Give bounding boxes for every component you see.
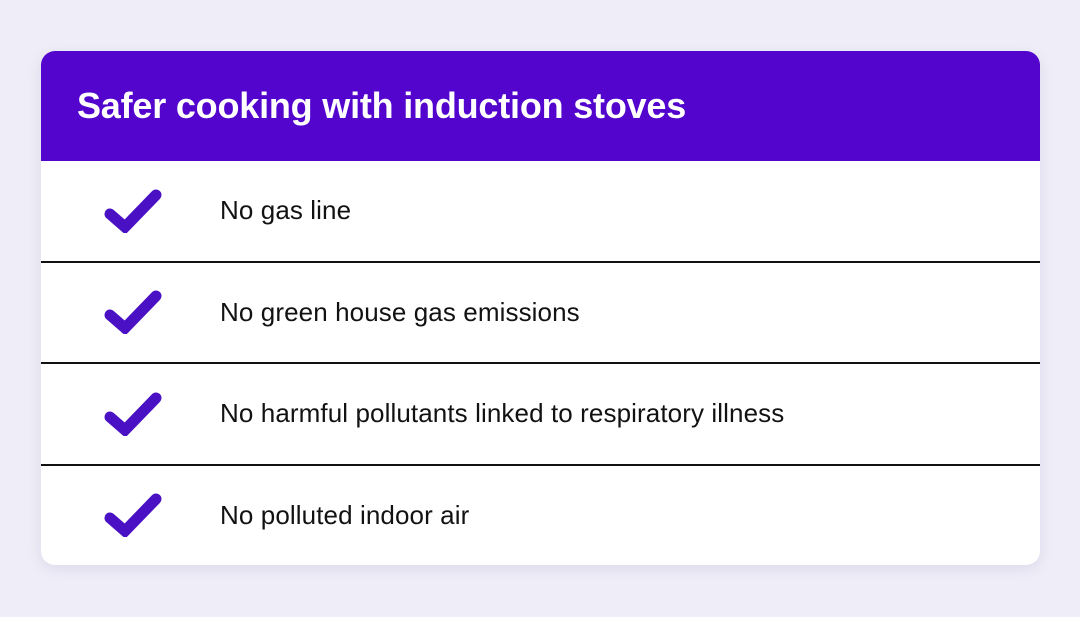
benefits-card: Safer cooking with induction stoves No g… [41,51,1040,565]
feature-label: No green house gas emissions [220,297,580,328]
card-header: Safer cooking with induction stoves [41,51,1040,161]
check-icon [104,290,162,334]
check-cell [41,392,220,436]
list-item: No gas line [41,161,1040,261]
list-item: No harmful pollutants linked to respirat… [41,362,1040,464]
check-icon [104,392,162,436]
page-root: Safer cooking with induction stoves No g… [0,0,1080,617]
check-icon [104,189,162,233]
check-cell [41,493,220,537]
feature-label: No harmful pollutants linked to respirat… [220,398,784,429]
check-icon [104,493,162,537]
check-cell [41,189,220,233]
feature-list: No gas line No green house gas emissions… [41,161,1040,565]
feature-label: No gas line [220,195,351,226]
feature-label: No polluted indoor air [220,500,469,531]
list-item: No polluted indoor air [41,464,1040,566]
list-item: No green house gas emissions [41,261,1040,363]
page-title: Safer cooking with induction stoves [77,86,686,126]
check-cell [41,290,220,334]
